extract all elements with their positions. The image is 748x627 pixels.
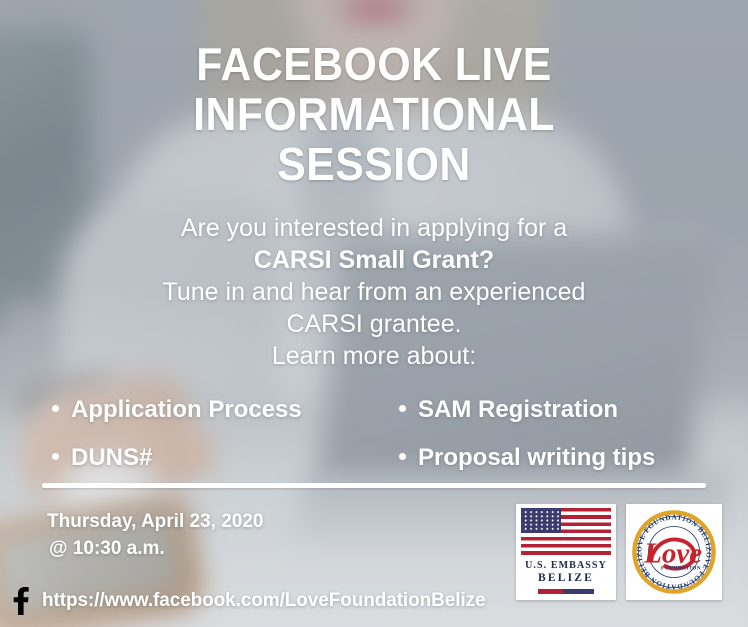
- bullet-dot-icon: [399, 453, 406, 460]
- bullet-dot-icon: [399, 405, 406, 412]
- facebook-link-row[interactable]: https://www.facebook.com/LoveFoundationB…: [8, 586, 485, 616]
- facebook-url-text: https://www.facebook.com/LoveFoundationB…: [42, 590, 485, 612]
- bullet-item-duns: DUNS#: [52, 444, 302, 472]
- poster-lede: Are you interested in applying for a CAR…: [0, 212, 748, 372]
- bullet-label: Proposal writing tips: [418, 444, 655, 471]
- bullet-label: Application Process: [71, 396, 302, 423]
- facebook-live-event-poster: FACEBOOK LIVE INFORMATIONAL SESSION Are …: [0, 0, 748, 627]
- bullet-item-application-process: Application Process: [52, 396, 302, 424]
- flag-canton: [521, 508, 561, 533]
- us-embassy-belize-logo: U.S. EMBASSY BELIZE: [516, 504, 616, 600]
- bullet-label: SAM Registration: [418, 396, 618, 423]
- title-line-2: INFORMATIONAL: [26, 89, 722, 139]
- event-date: Thursday, April 23, 2020: [47, 508, 263, 535]
- lede-line-2-grant-name: CARSI Small Grant?: [0, 244, 748, 276]
- lede-line-1: Are you interested in applying for a: [0, 212, 748, 244]
- lede-line-3: Tune in and hear from an experienced: [0, 276, 748, 308]
- event-time: @ 10:30 a.m.: [47, 535, 263, 562]
- facebook-f-icon: [8, 586, 34, 616]
- title-line-1: FACEBOOK LIVE: [26, 39, 722, 89]
- bullet-label: DUNS#: [71, 444, 152, 471]
- embassy-line-1: U.S. EMBASSY: [525, 560, 607, 571]
- horizontal-divider: [42, 483, 706, 488]
- bullet-item-proposal-writing-tips: Proposal writing tips: [399, 444, 655, 472]
- bullet-item-sam-registration: SAM Registration: [399, 396, 655, 424]
- bullet-column-right: SAM Registration Proposal writing tips: [399, 396, 655, 492]
- love-foundation-belize-seal: LOVE FOUNDATION BELIZE LOVE FOUNDATION B…: [626, 504, 722, 600]
- poster-title: FACEBOOK LIVE INFORMATIONAL SESSION: [26, 39, 722, 189]
- topics-bullet-lists: Application Process DUNS# SAM Registrati…: [44, 396, 708, 476]
- bullet-dot-icon: [52, 453, 59, 460]
- embassy-line-2: BELIZE: [538, 572, 594, 584]
- us-flag-icon: [521, 508, 611, 555]
- flag-stars: [523, 510, 559, 531]
- lede-line-4: CARSI grantee.: [0, 308, 748, 340]
- event-datetime: Thursday, April 23, 2020 @ 10:30 a.m.: [47, 508, 263, 562]
- sponsor-logos: U.S. EMBASSY BELIZE LOVE FOUNDATION B: [516, 504, 722, 600]
- bullet-dot-icon: [52, 405, 59, 412]
- title-line-3: SESSION: [26, 139, 722, 189]
- lede-line-5: Learn more about:: [0, 340, 748, 372]
- seal-sub-wordmark: FOUNDATION: [661, 566, 701, 572]
- bullet-column-left: Application Process DUNS#: [52, 396, 302, 492]
- embassy-rule: [538, 589, 594, 594]
